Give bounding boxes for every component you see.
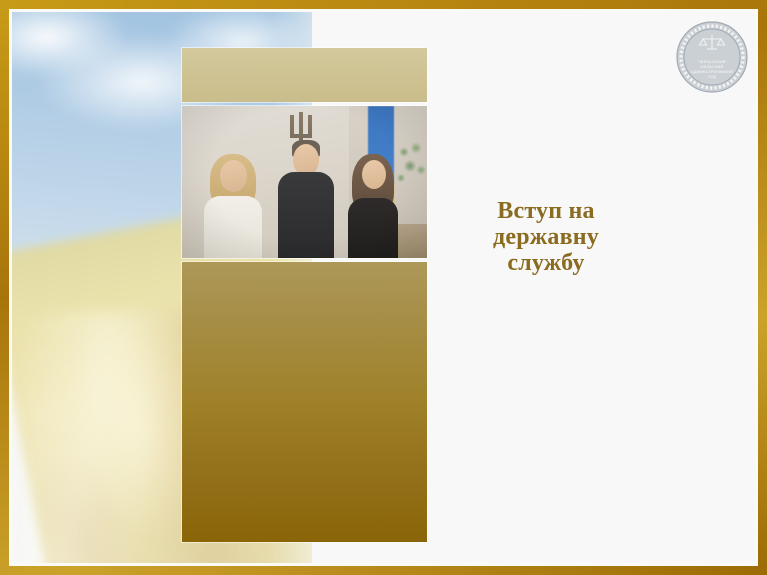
- slide-canvas: Вступ на державну службу: [12, 12, 755, 563]
- title-line-2: державну: [436, 224, 656, 250]
- title-line-1: Вступ на: [436, 198, 656, 224]
- gold-gradient-panel: [182, 262, 427, 542]
- presentation-slide: Вступ на державну службу: [0, 0, 767, 575]
- photo-vignette: [182, 106, 427, 258]
- group-photo: [182, 106, 427, 258]
- seal-text-line-4: СУД: [708, 75, 716, 79]
- seal-text-line-2: ОБЛАСНИЙ: [700, 65, 723, 69]
- page-title: Вступ на державну службу: [436, 198, 656, 276]
- title-line-3: службу: [436, 250, 656, 276]
- seal-text-line-1: ЧЕРКАСЬКИЙ: [698, 60, 726, 64]
- court-seal-icon: ЧЕРКАСЬКИЙ ОБЛАСНИЙ АДМІНІСТРАТИВНИЙ СУД: [673, 18, 751, 96]
- beige-accent-panel: [182, 48, 427, 102]
- seal-text-line-3: АДМІНІСТРАТИВНИЙ: [691, 70, 733, 74]
